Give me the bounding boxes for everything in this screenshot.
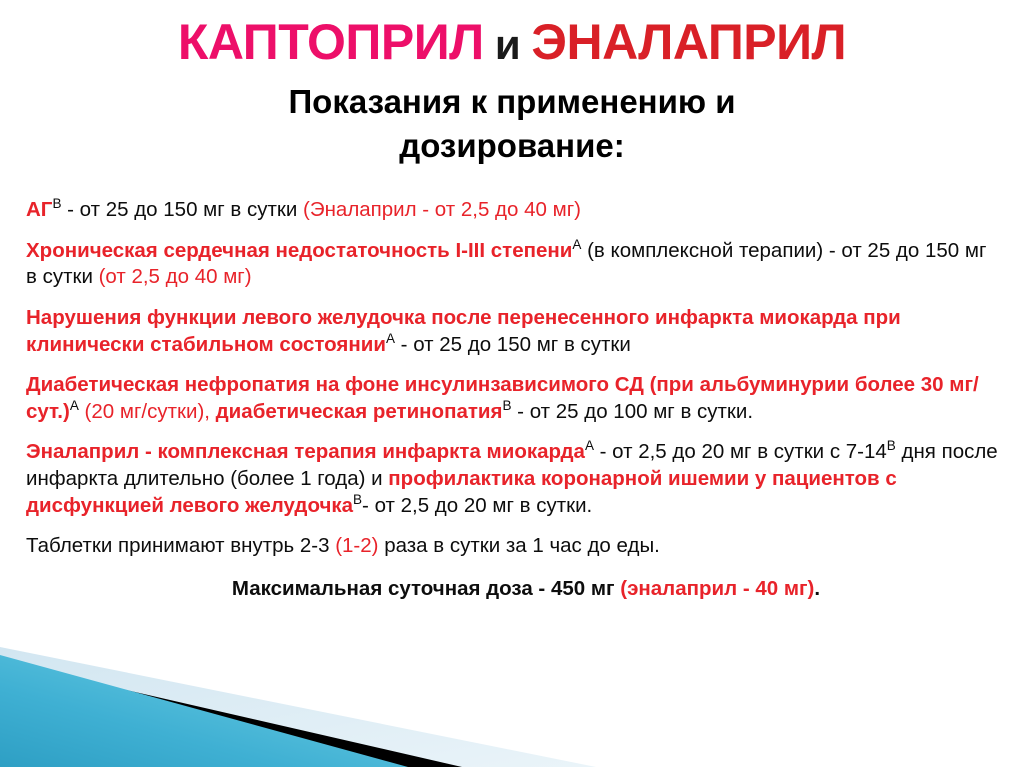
indication-diabetic-nephropathy: Диабетическая нефропатия на фоне инсулин… <box>26 372 1002 425</box>
administration-text-part2: раза в сутки за 1 час до еды. <box>379 534 660 557</box>
title-word-enalapril: ЭНАЛАПРИЛ <box>531 14 846 70</box>
indication-label-chf: Хроническая сердечная недостаточность I-… <box>26 239 572 262</box>
footnote-marker-a: А <box>386 331 395 346</box>
footnote-marker-a: А <box>585 439 594 454</box>
indication-label-ag: АГ <box>26 198 52 221</box>
dose-enalapril-mi: - от 2,5 до 20 мг в сутки с 7-14 <box>594 440 887 463</box>
page-title: КАПТОПРИЛ и ЭНАЛАПРИЛ <box>0 16 1024 69</box>
subtitle-line-2: дозирование: <box>112 124 912 168</box>
indication-lv-dysfunction: Нарушения функции левого желудочка после… <box>26 305 1002 358</box>
subtitle-line-1: Показания к применению и <box>112 80 912 124</box>
slide-canvas: КАПТОПРИЛ и ЭНАЛАПРИЛ Показания к примен… <box>0 0 1024 767</box>
indication-label-retinopathy: диабетическая ретинопатия <box>216 400 503 423</box>
decorative-wedge-teal <box>0 655 408 767</box>
title-word-captopril: КАПТОПРИЛ <box>178 14 484 70</box>
footnote-marker-a: А <box>70 398 79 413</box>
dose-enalapril-nephropathy: (20 мг/сутки), <box>79 400 216 423</box>
administration-text-part1: Таблетки принимают внутрь 2-3 <box>26 534 335 557</box>
indication-hypertension: АГВ - от 25 до 150 мг в сутки (Эналаприл… <box>26 197 1002 224</box>
decorative-footer-banner <box>0 639 1024 767</box>
maximum-daily-dose: Максимальная суточная доза - 450 мг (эна… <box>26 576 1002 603</box>
administration-instructions: Таблетки принимают внутрь 2-3 (1-2) раза… <box>26 533 1002 560</box>
decorative-wedge-pale <box>0 647 596 767</box>
dose-coronary-prophylaxis: - от 2,5 до 20 мг в сутки. <box>362 494 592 517</box>
indication-label-enalapril-mi: Эналаприл - комплексная терапия инфаркта… <box>26 440 585 463</box>
page-subtitle: Показания к применению и дозирование: <box>112 80 912 167</box>
dose-enalapril-ag: (Эналаприл - от 2,5 до 40 мг) <box>303 198 581 221</box>
footnote-marker-v: В <box>353 492 362 507</box>
max-dose-period: . <box>814 577 820 600</box>
max-dose-captopril: Максимальная суточная доза - 450 мг <box>232 577 620 600</box>
dose-enalapril-chf: (от 2,5 до 40 мг) <box>99 265 252 288</box>
administration-frequency-enalapril: (1-2) <box>335 534 378 557</box>
content-body: АГВ - от 25 до 150 мг в сутки (Эналаприл… <box>26 197 1002 603</box>
title-conjunction: и <box>484 21 532 68</box>
footnote-marker-v: В <box>887 439 896 454</box>
dose-captopril-nephropathy: - от 25 до 100 мг в сутки. <box>511 400 753 423</box>
indication-enalapril-mi: Эналаприл - комплексная терапия инфаркта… <box>26 439 1002 519</box>
indication-chronic-heart-failure: Хроническая сердечная недостаточность I-… <box>26 238 1002 291</box>
decorative-stripe-black <box>0 661 462 767</box>
dose-captopril-ag: - от 25 до 150 мг в сутки <box>61 198 303 221</box>
dose-captopril-lv: - от 25 до 150 мг в сутки <box>395 333 631 356</box>
max-dose-enalapril: (эналаприл - 40 мг) <box>620 577 814 600</box>
